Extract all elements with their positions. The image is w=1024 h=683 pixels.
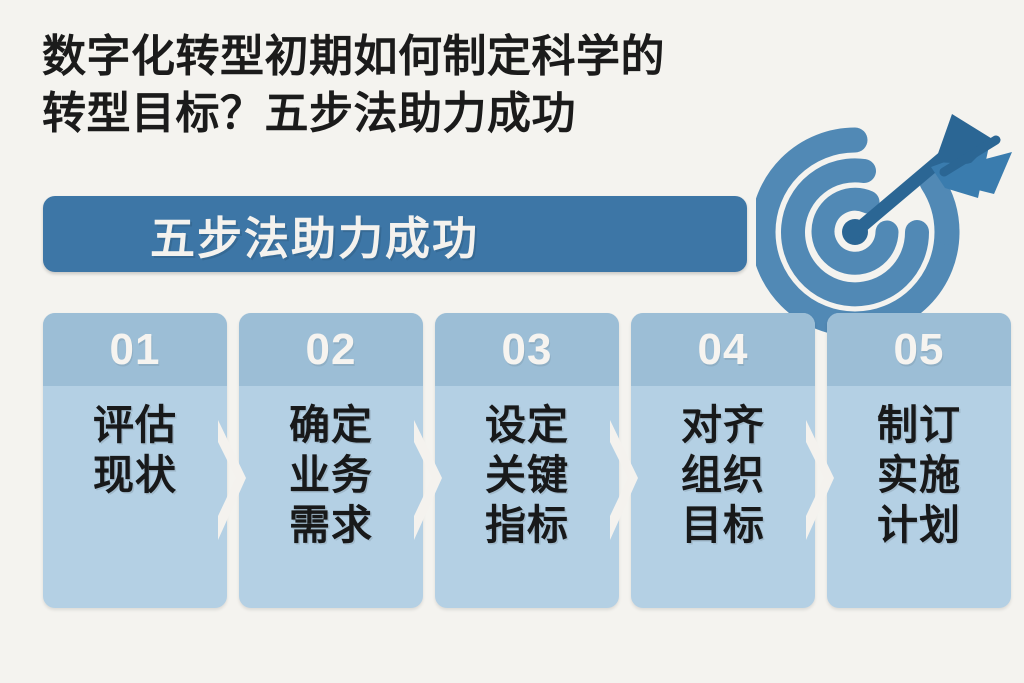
steps-row: 01 评估 现状 02 确定 业务 需求 03 设定 关键 (0, 313, 1024, 609)
step-label-line: 现状 (93, 450, 177, 500)
step-card-01-body: 评估 现状 (43, 386, 227, 608)
step-label-line: 对齐 (681, 400, 765, 450)
page-title-line-1: 数字化转型初期如何制定科学的 (42, 28, 802, 85)
step-label-line: 评估 (93, 400, 177, 450)
step-label-line: 关键 (485, 450, 569, 500)
step-number: 05 (894, 325, 945, 375)
step-card-04-header: 04 (631, 313, 815, 386)
page-title-line-2: 转型目标？五步法助力成功 (42, 85, 802, 142)
page-title: 数字化转型初期如何制定科学的 转型目标？五步法助力成功 (42, 28, 802, 142)
step-card-04-body: 对齐 组织 目标 (631, 386, 815, 608)
step-label-line: 实施 (877, 450, 961, 500)
step-number: 02 (306, 325, 357, 375)
step-card-01[interactable]: 01 评估 现状 (43, 313, 227, 608)
headline-banner-label: 五步法助力成功 (150, 202, 479, 267)
step-card-03[interactable]: 03 设定 关键 指标 (435, 313, 619, 608)
step-number: 03 (502, 325, 553, 375)
step-label-line: 计划 (877, 500, 961, 550)
step-label-line: 组织 (681, 450, 765, 500)
step-label-line: 制订 (877, 400, 961, 450)
step-card-05[interactable]: 05 制订 实施 计划 (827, 313, 1011, 608)
step-card-02[interactable]: 02 确定 业务 需求 (239, 313, 423, 608)
step-card-01-header: 01 (43, 313, 227, 386)
step-card-03-body: 设定 关键 指标 (435, 386, 619, 608)
step-card-04[interactable]: 04 对齐 组织 目标 (631, 313, 815, 608)
step-label-line: 目标 (681, 500, 765, 550)
step-label-line: 指标 (485, 500, 569, 550)
step-card-02-body: 确定 业务 需求 (239, 386, 423, 608)
headline-banner: 五步法助力成功 (43, 196, 747, 272)
step-card-05-header: 05 (827, 313, 1011, 386)
step-number: 01 (110, 325, 161, 375)
step-number: 04 (698, 325, 749, 375)
infographic-canvas: 数字化转型初期如何制定科学的 转型目标？五步法助力成功 五步法助力成功 (0, 0, 1024, 683)
step-label-line: 业务 (289, 450, 373, 500)
step-label-line: 确定 (289, 400, 373, 450)
step-label-line: 需求 (289, 500, 373, 550)
step-card-03-header: 03 (435, 313, 619, 386)
step-card-05-body: 制订 实施 计划 (827, 386, 1011, 608)
step-card-02-header: 02 (239, 313, 423, 386)
step-label-line: 设定 (485, 400, 569, 450)
